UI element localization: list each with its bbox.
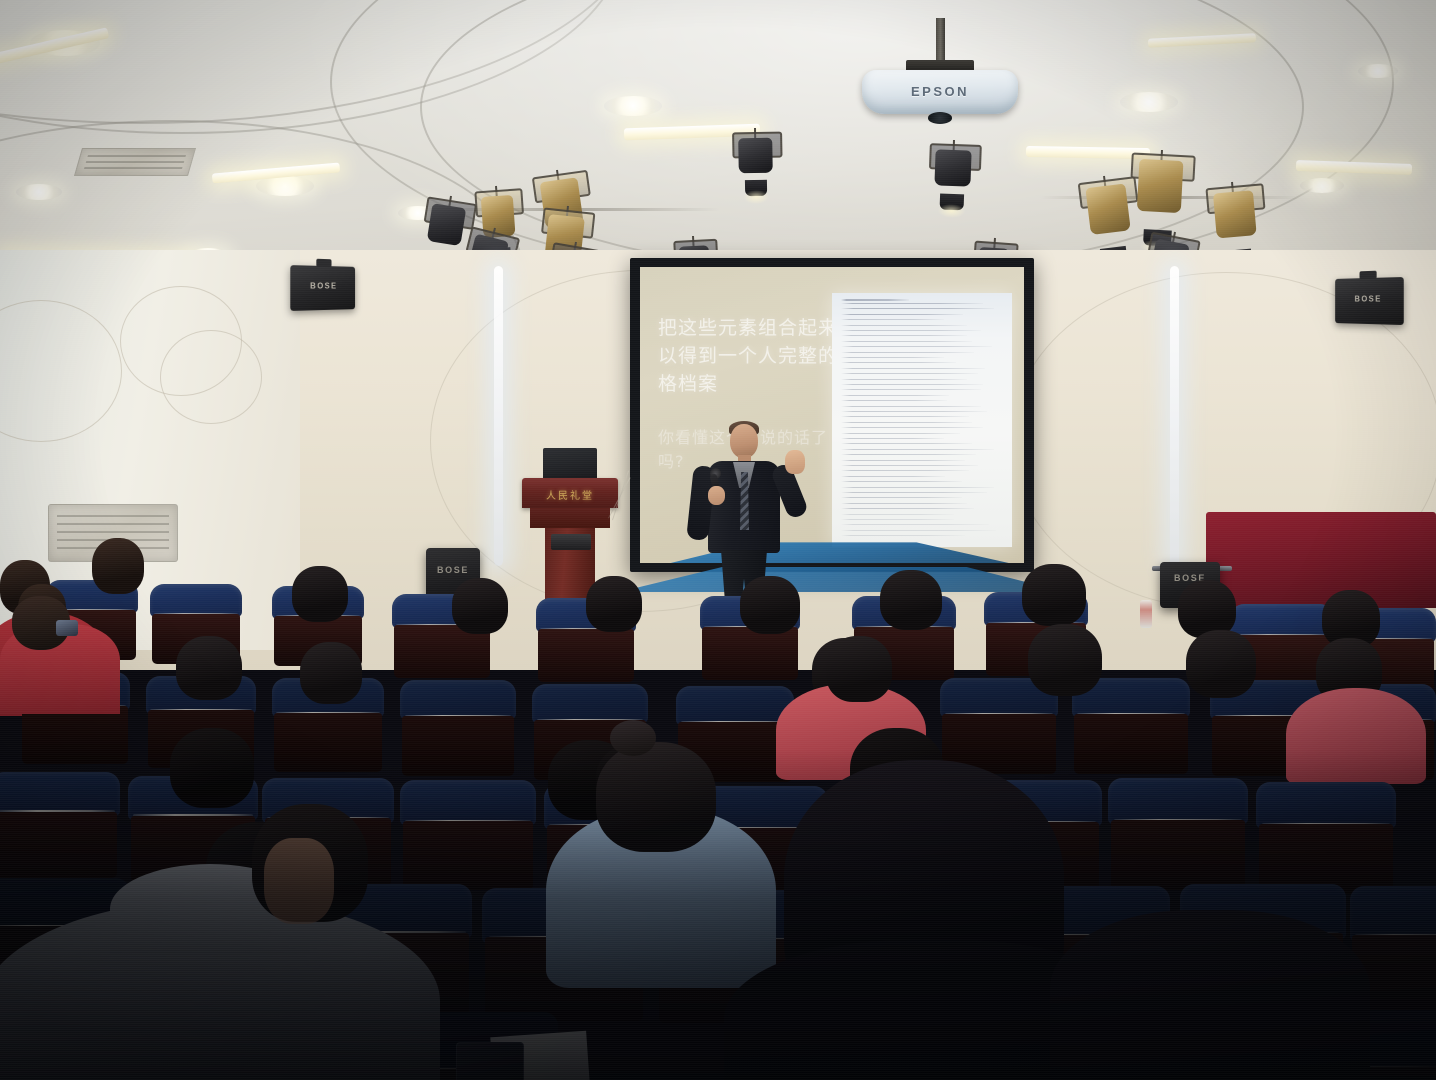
stage-spotlight-8 — [738, 128, 773, 185]
handwriting-line — [841, 406, 981, 407]
handwriting-line — [841, 362, 956, 363]
seat — [1072, 678, 1190, 772]
handwriting-line — [841, 346, 992, 347]
air-vent-icon — [74, 148, 196, 176]
handwriting-line — [841, 449, 994, 450]
handwriting-line — [841, 503, 967, 504]
audience-head — [1022, 564, 1086, 626]
slide-line-5: 吗? — [658, 451, 685, 474]
handwriting-line — [841, 497, 962, 498]
downlight-7 — [1358, 64, 1398, 78]
wall-decor-circle-2 — [160, 330, 262, 424]
presenter-head — [730, 424, 758, 458]
audience-head — [826, 636, 892, 702]
seat — [940, 678, 1058, 772]
handwriting-line — [841, 373, 978, 374]
handwriting-line — [841, 330, 981, 331]
wall-speaker-right-brand: BOSE — [1355, 295, 1382, 304]
audience-head — [586, 576, 642, 632]
audience-person-gray-hoodie — [0, 840, 460, 1080]
wall-light-strip-left — [494, 266, 503, 566]
handwriting-line — [841, 433, 960, 434]
audience-person-right — [1286, 688, 1426, 784]
presenter-mic-hand — [708, 486, 725, 505]
handwriting-line — [841, 443, 972, 444]
lectern-top: 人民礼堂 — [522, 478, 618, 508]
handwriting-line — [841, 335, 967, 336]
downlight-6 — [1300, 178, 1344, 193]
downlight-4 — [1120, 92, 1178, 112]
wall-speaker-left-brand: BOSE — [310, 282, 337, 291]
stage-spotlight-11 — [1084, 174, 1133, 254]
tube-light-5 — [1296, 160, 1412, 175]
handwriting-line — [841, 514, 954, 515]
audience-head — [1186, 630, 1256, 698]
audience-head — [300, 642, 362, 704]
handwriting-line — [841, 325, 967, 326]
handwriting-line — [841, 368, 985, 369]
handwriting-line — [841, 319, 944, 320]
wall-light-strip-right — [1170, 266, 1179, 566]
wall-speaker-right: BOSE — [1335, 277, 1404, 325]
audience-head — [292, 566, 348, 622]
ceiling-arc-left — [0, 0, 644, 124]
stage-spotlight-9 — [934, 139, 972, 198]
handwriting-line — [841, 470, 969, 471]
audience-person-phone-user — [0, 596, 120, 706]
handwriting-line — [841, 422, 972, 423]
handwriting-line — [841, 308, 994, 309]
handwriting-line — [841, 341, 972, 342]
audience-head — [176, 636, 242, 700]
handwriting-line — [841, 465, 978, 466]
handwriting-line — [841, 400, 947, 401]
ceiling-projector: EPSON — [862, 66, 1018, 118]
handwriting-line — [841, 416, 969, 417]
handwriting-line — [841, 524, 989, 525]
handwriting-line — [841, 476, 945, 477]
seat — [1256, 782, 1396, 892]
smartphone[interactable] — [456, 1042, 524, 1080]
audience-head — [1028, 624, 1102, 696]
venue-name-label: 人民礼堂 — [522, 487, 618, 502]
downlight-8 — [16, 184, 62, 200]
slide-line-1: 把这些元素组合起来可 — [658, 315, 858, 342]
handwriting-line — [841, 454, 976, 455]
handwriting-salutation — [841, 299, 909, 301]
downlight-3 — [604, 96, 662, 116]
handwriting-line — [841, 438, 944, 439]
projector-brand-label: EPSON — [862, 84, 1018, 99]
lectern-monitor — [543, 448, 597, 482]
seat — [1108, 778, 1248, 888]
handwriting-line — [841, 379, 967, 380]
handwriting-line — [841, 303, 983, 304]
audience-person-denim — [506, 748, 806, 978]
presenter-striped-tie — [740, 472, 749, 530]
water-bottle — [1140, 600, 1152, 628]
stage-spotlight-14 — [1212, 180, 1258, 255]
slide-line-2: 以得到一个人完整的人 — [658, 343, 858, 370]
handwriting-line — [841, 314, 963, 315]
handwriting-line — [841, 460, 965, 461]
wall-speaker-left: BOSE — [290, 265, 355, 311]
audience-person-foreground-right — [1050, 910, 1436, 1080]
ceiling-arc-left-2 — [0, 0, 624, 134]
seat — [400, 680, 516, 774]
handwriting-line — [841, 395, 949, 396]
lecture-hall-photo: EPSON BOSE BOSE BOSE 把这些元素组合起来可 以得到一个人完整… — [0, 0, 1436, 1080]
audience-head — [880, 570, 942, 630]
handwriting-line — [841, 535, 965, 536]
handwriting-line — [841, 519, 954, 520]
audience-head — [170, 728, 254, 808]
slide-handwritten-document — [832, 293, 1012, 547]
projector-lens-icon — [928, 112, 953, 124]
lectern-mid — [530, 508, 611, 528]
handwriting-line — [841, 352, 974, 353]
handwriting-line — [841, 389, 981, 390]
handwriting-line — [841, 384, 983, 385]
handwriting-line — [841, 481, 962, 482]
projector-shell: EPSON — [862, 70, 1018, 114]
handwriting-line — [841, 357, 944, 358]
lectern-laptop — [551, 534, 591, 550]
handwriting-line — [841, 492, 987, 493]
handwriting-line — [841, 427, 983, 428]
audience-head — [92, 538, 144, 594]
audience-head — [452, 578, 508, 634]
presenter-raised-hand — [785, 450, 805, 474]
slide-line-3: 格档案 — [658, 371, 718, 398]
handwriting-line — [841, 487, 994, 488]
audience-head — [740, 576, 800, 634]
tube-light-7 — [1148, 33, 1256, 48]
handwriting-line — [841, 411, 987, 412]
handwriting-line — [841, 530, 996, 531]
stage-spotlight-12 — [1136, 149, 1184, 235]
handwriting-line — [841, 508, 974, 509]
